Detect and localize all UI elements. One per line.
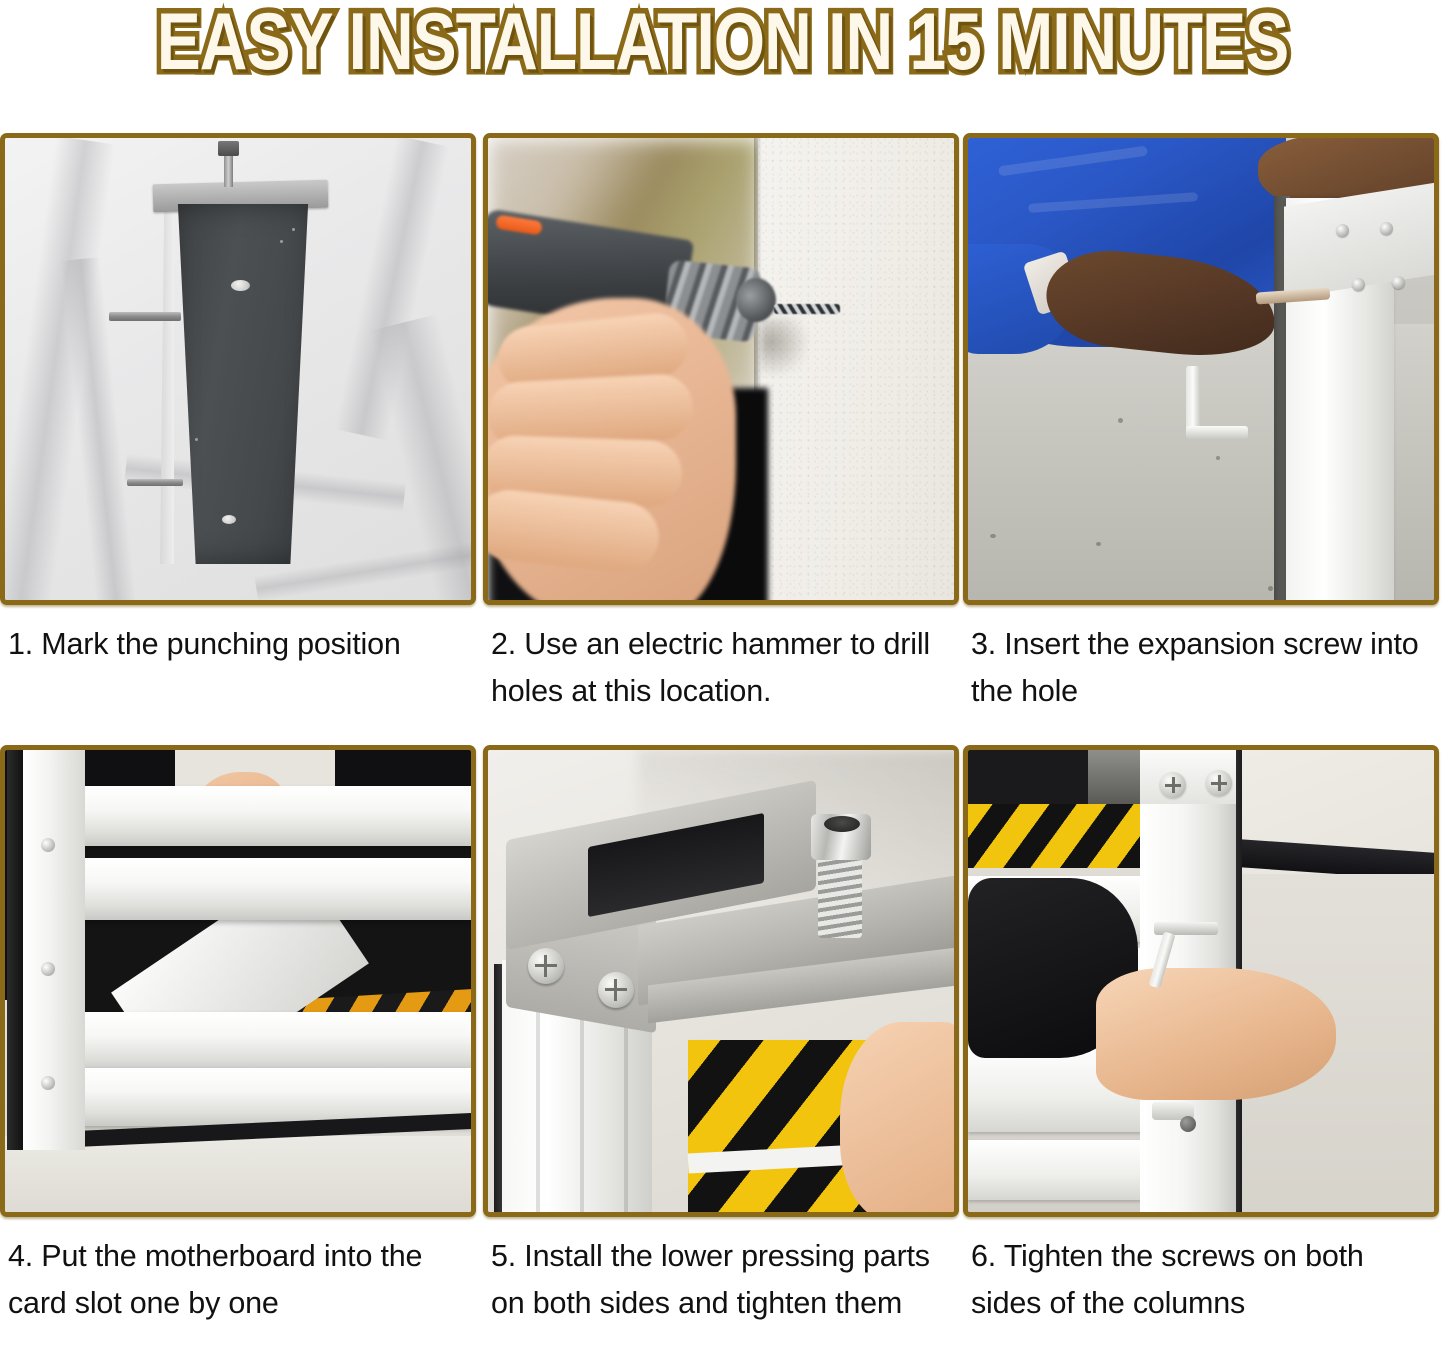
banner: EASY INSTALLATION IN 15 MINUTES: [0, 0, 1445, 82]
page-title: EASY INSTALLATION IN 15 MINUTES: [157, 0, 1288, 82]
step-photo-frame-3: [963, 133, 1439, 605]
steps-row-bottom: 4. Put the motherboard into the card slo…: [0, 745, 1445, 1352]
photo-drill-holes: [488, 138, 954, 600]
photo-insert-boards-into-slot: [5, 750, 471, 1212]
step-photo-frame-5: [483, 745, 959, 1217]
step-caption-2: 2. Use an electric hammer to drill holes…: [491, 621, 953, 715]
photo-tighten-column-screws: [968, 750, 1434, 1212]
steps-row-top: 1. Mark the punching position: [0, 133, 1445, 745]
step-photo-frame-2: [483, 133, 959, 605]
photo-install-pressing-parts: [488, 750, 954, 1212]
step-card-2: 2. Use an electric hammer to drill holes…: [483, 133, 963, 605]
step-card-4: 4. Put the motherboard into the card slo…: [0, 745, 480, 1217]
step-caption-1: 1. Mark the punching position: [8, 621, 470, 668]
photo-mark-punching-position: [5, 138, 471, 600]
step-card-1: 1. Mark the punching position: [0, 133, 480, 605]
step-photo-frame-1: [0, 133, 476, 605]
step-photo-frame-6: [963, 745, 1439, 1217]
step-card-3: 3. Insert the expansion screw into the h…: [963, 133, 1443, 605]
photo-insert-expansion-screw: [968, 138, 1434, 600]
installation-guide-page: EASY INSTALLATION IN 15 MINUTES: [0, 0, 1445, 1352]
step-card-5: 5. Install the lower pressing parts on b…: [483, 745, 963, 1217]
step-caption-5: 5. Install the lower pressing parts on b…: [491, 1233, 953, 1327]
step-card-6: 6. Tighten the screws on both sides of t…: [963, 745, 1443, 1217]
steps-grid: 1. Mark the punching position: [0, 133, 1445, 1352]
step-photo-frame-4: [0, 745, 476, 1217]
step-caption-3: 3. Insert the expansion screw into the h…: [971, 621, 1433, 715]
step-caption-6: 6. Tighten the screws on both sides of t…: [971, 1233, 1433, 1327]
step-caption-4: 4. Put the motherboard into the card slo…: [8, 1233, 470, 1327]
